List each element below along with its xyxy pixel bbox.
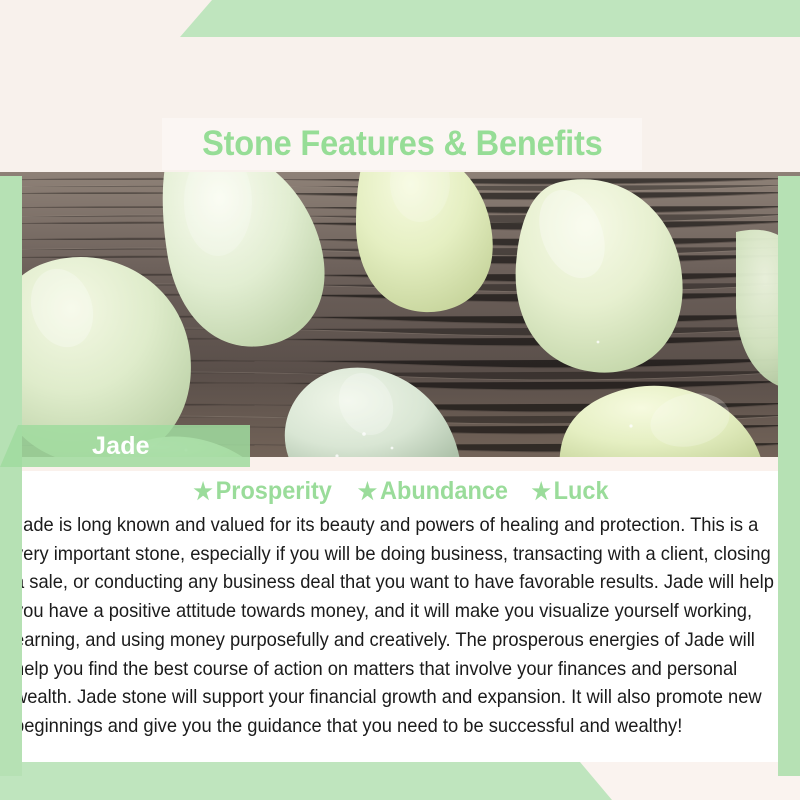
star-icon: ★ bbox=[193, 478, 212, 504]
right-green-band bbox=[778, 176, 800, 776]
stone-name: Jade bbox=[92, 432, 150, 461]
bottom-green-band bbox=[0, 762, 800, 800]
title-bar: Stone Features & Benefits bbox=[162, 118, 642, 170]
benefits-row: ★Prosperity ★Abundance ★Luck bbox=[0, 477, 800, 506]
benefit-label-0: Prosperity bbox=[216, 477, 332, 505]
stone-info-poster: BUDDHA STONES Stone Features & Benefits bbox=[0, 0, 800, 800]
benefit-item-1: ★Abundance bbox=[358, 477, 508, 506]
benefit-label-2: Luck bbox=[554, 477, 609, 505]
stone-name-banner: Jade bbox=[0, 425, 250, 467]
jade-stones-photo bbox=[0, 172, 800, 457]
star-icon: ★ bbox=[358, 478, 377, 504]
page-title: Stone Features & Benefits bbox=[202, 124, 603, 164]
benefit-item-2: ★Luck bbox=[531, 477, 608, 506]
left-green-band bbox=[0, 176, 22, 776]
stone-description: Jade is long known and valued for its be… bbox=[14, 512, 786, 742]
benefit-item-0: ★Prosperity bbox=[193, 477, 331, 506]
benefit-label-1: Abundance bbox=[380, 477, 508, 505]
star-icon: ★ bbox=[531, 478, 550, 504]
jade-stones-illustration bbox=[0, 172, 800, 457]
content-area: ★Prosperity ★Abundance ★Luck Jade is lon… bbox=[0, 471, 800, 762]
